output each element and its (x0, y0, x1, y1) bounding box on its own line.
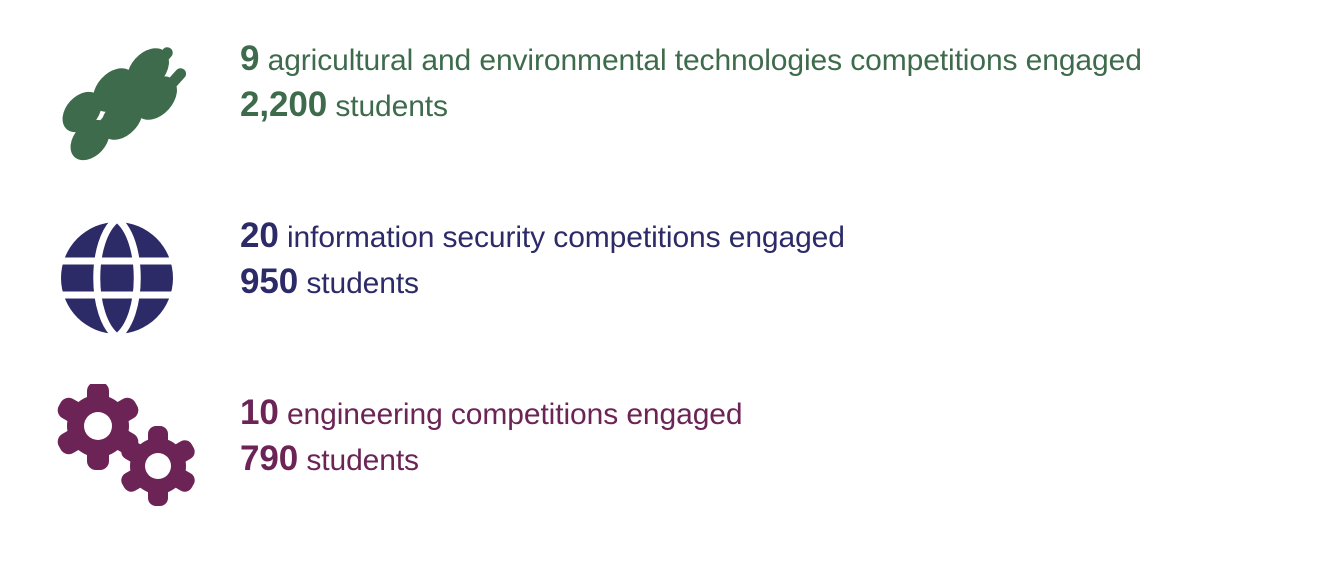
stat-line-competitions: 9 agricultural and environmental technol… (240, 36, 1344, 82)
text-cell-engineering: 10 engineering competitions engaged 790 … (240, 382, 1344, 481)
stat-number-students: 2,200 (240, 85, 327, 124)
text-cell-information-security: 20 information security competitions eng… (240, 205, 1344, 304)
stat-row-engineering: 10 engineering competitions engaged 790 … (0, 382, 1344, 522)
stat-label-students: students (327, 90, 448, 123)
stat-label-students: students (298, 267, 419, 300)
stat-line-competitions: 10 engineering competitions engaged (240, 390, 1344, 436)
gears-icon (54, 384, 200, 506)
stat-line-students: 790 students (240, 436, 1344, 482)
stats-infographic: 9 agricultural and environmental technol… (0, 0, 1344, 576)
stat-line-students: 950 students (240, 259, 1344, 305)
stat-row-agricultural: 9 agricultural and environmental technol… (0, 28, 1344, 168)
stat-number-students: 950 (240, 262, 298, 301)
stat-label-competitions: agricultural and environmental technolog… (259, 44, 1141, 77)
icon-cell-agricultural (0, 28, 240, 168)
stat-label-competitions: information security competitions engage… (279, 221, 845, 254)
stat-label-competitions: engineering competitions engaged (279, 398, 743, 431)
text-cell-agricultural: 9 agricultural and environmental technol… (240, 28, 1344, 127)
stat-line-students: 2,200 students (240, 82, 1344, 128)
stat-label-students: students (298, 444, 419, 477)
stat-number-competitions: 10 (240, 393, 279, 432)
icon-cell-information-security (0, 205, 240, 345)
stat-line-competitions: 20 information security competitions eng… (240, 213, 1344, 259)
icon-cell-engineering (0, 382, 240, 522)
stat-number-competitions: 9 (240, 39, 259, 78)
stat-number-students: 790 (240, 439, 298, 478)
stat-number-competitions: 20 (240, 216, 279, 255)
stat-row-information-security: 20 information security competitions eng… (0, 205, 1344, 345)
globe-icon (60, 221, 174, 335)
wheat-icon (52, 34, 192, 174)
